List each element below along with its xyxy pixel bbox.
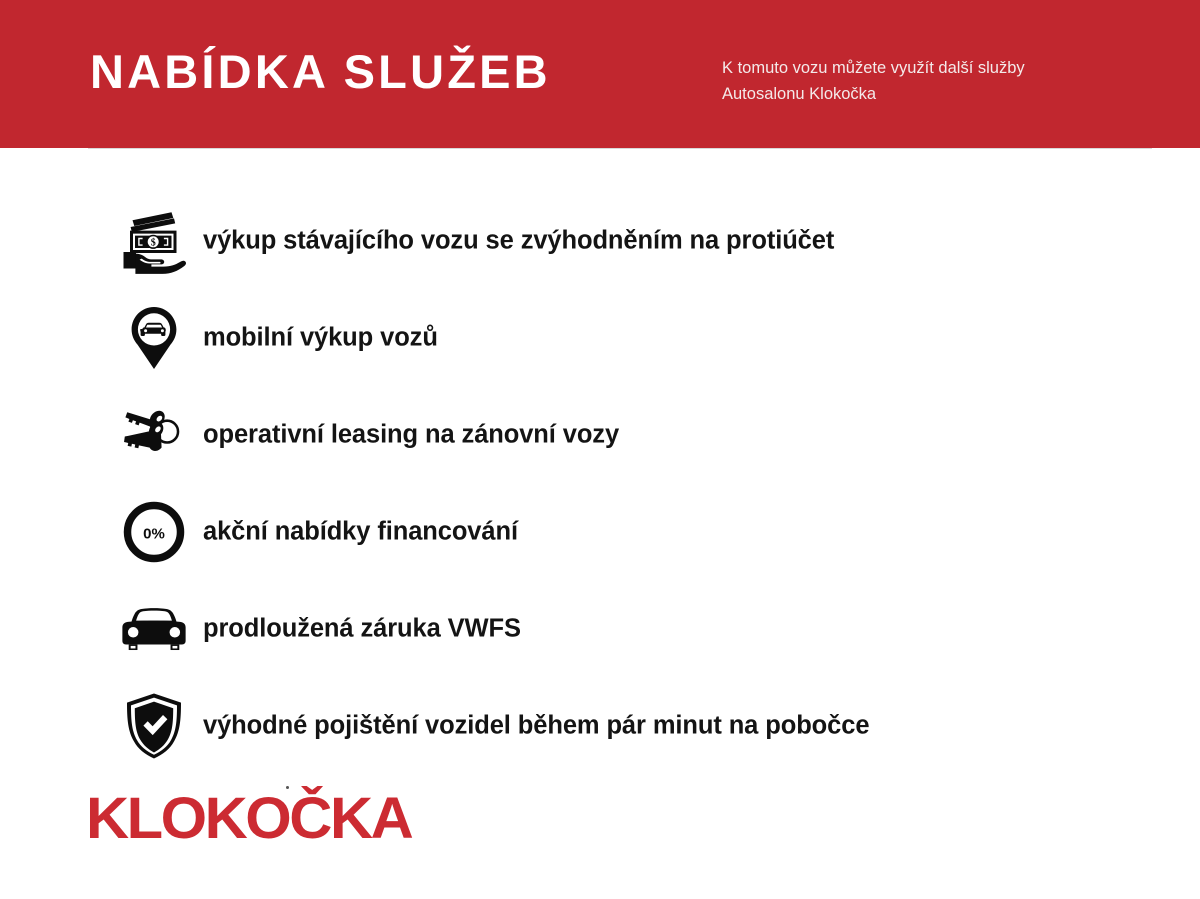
shield-check-icon [118, 690, 190, 762]
slide-canvas: NABÍDKA SLUŽEB K tomuto vozu můžete využ… [0, 0, 1200, 899]
svg-text:$: $ [151, 237, 156, 248]
service-item-operative-leasing: operativní leasing na zánovní vozy [0, 386, 1200, 483]
cash-in-hand-icon: $ [118, 205, 190, 277]
map-pin-car-icon [118, 302, 190, 374]
service-item-financing: 0% akční nabídky financování [0, 483, 1200, 580]
service-item-extended-warranty: prodloužená záruka VWFS [0, 580, 1200, 677]
service-label: mobilní výkup vozů [203, 323, 438, 352]
service-label: akční nabídky financování [203, 517, 518, 546]
services-list: $ výkup stávajícího vozu se zvýhodněním … [0, 192, 1200, 774]
service-item-trade-in: $ výkup stávajícího vozu se zvýhodněním … [0, 192, 1200, 289]
zero-percent-circle-icon: 0% [118, 496, 190, 568]
service-label: výhodné pojištění vozidel během pár minu… [203, 711, 869, 740]
car-front-icon [118, 593, 190, 665]
logo-wordmark: KLOKOČKA [86, 786, 412, 851]
klokocka-logo: KLOKOČKA [86, 786, 506, 856]
service-item-insurance: výhodné pojištění vozidel během pár minu… [0, 677, 1200, 774]
header-subtitle-line-2: Autosalonu Klokočka [722, 82, 1122, 108]
logo-speck-artifact [286, 786, 289, 789]
service-item-mobile-buyout: mobilní výkup vozů [0, 289, 1200, 386]
header-subtitle: K tomuto vozu můžete využít další služby… [722, 56, 1122, 107]
header-subtitle-line-1: K tomuto vozu můžete využít další služby [722, 56, 1122, 82]
car-keys-icon [118, 399, 190, 471]
header-divider [88, 148, 1152, 149]
service-label: prodloužená záruka VWFS [203, 614, 521, 643]
service-label: výkup stávajícího vozu se zvýhodněním na… [203, 226, 834, 255]
service-label: operativní leasing na zánovní vozy [203, 420, 619, 449]
svg-text:0%: 0% [143, 525, 165, 542]
page-title: NABÍDKA SLUŽEB [90, 48, 551, 95]
